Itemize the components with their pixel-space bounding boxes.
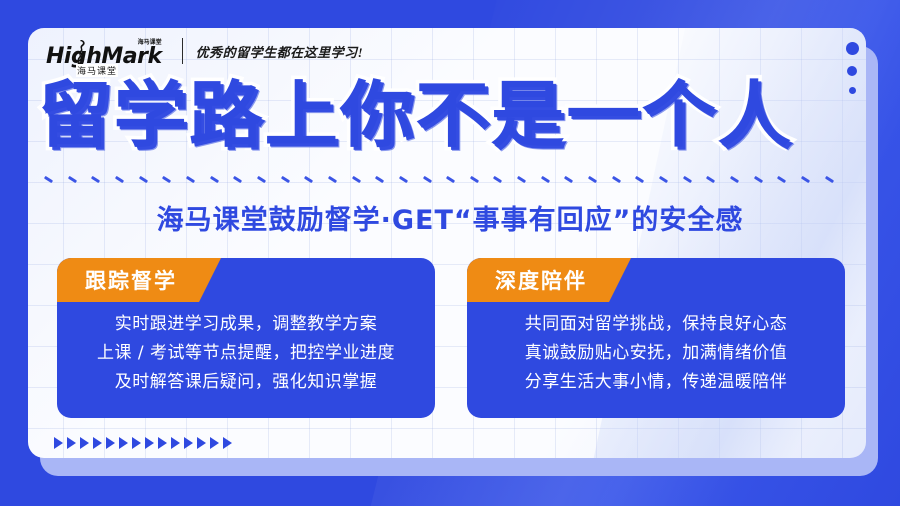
arrow-triangle-icon (67, 437, 76, 449)
logo-superscript: 海马课堂 (138, 40, 162, 46)
arrow-triangle-icon (197, 437, 206, 449)
logo-subtext: 海马课堂 (76, 64, 118, 77)
logo-mark: HighMark 海马课堂 海马课堂 (46, 34, 162, 68)
arrow-triangle-icon (93, 437, 102, 449)
card-body: 共同面对留学挑战，保持良好心态 真诚鼓励贴心安抚，加满情绪价值 分享生活大事小情… (467, 310, 845, 397)
feature-card: 跟踪督学 实时跟进学习成果，调整教学方案 上课 / 考试等节点提醒，把控学业进度… (57, 258, 435, 418)
brand-logo: HighMark 海马课堂 海马课堂 优秀的留学生都在这里学习! (46, 34, 363, 68)
logo-divider (182, 38, 183, 64)
headline: 留学路上你不是一个人 (38, 72, 864, 158)
arrow-triangle-icon (119, 437, 128, 449)
card-line: 及时解答课后疑问，强化知识掌握 (57, 368, 435, 397)
card-line: 实时跟进学习成果，调整教学方案 (57, 310, 435, 339)
card-line: 上课 / 考试等节点提醒，把控学业进度 (57, 339, 435, 368)
card-line: 共同面对留学挑战，保持良好心态 (467, 310, 845, 339)
arrow-triangle-icon (145, 437, 154, 449)
arrow-strip (54, 437, 232, 449)
arrow-triangle-icon (132, 437, 141, 449)
arrow-triangle-icon (223, 437, 232, 449)
card-line: 真诚鼓励贴心安抚，加满情绪价值 (467, 339, 845, 368)
feature-card: 深度陪伴 共同面对留学挑战，保持良好心态 真诚鼓励贴心安抚，加满情绪价值 分享生… (467, 258, 845, 418)
arrow-triangle-icon (106, 437, 115, 449)
card-body: 实时跟进学习成果，调整教学方案 上课 / 考试等节点提醒，把控学业进度 及时解答… (57, 310, 435, 397)
arrow-triangle-icon (158, 437, 167, 449)
card-badge: 深度陪伴 (467, 258, 631, 302)
card-badge: 跟踪督学 (57, 258, 221, 302)
arrow-triangle-icon (184, 437, 193, 449)
arrow-triangle-icon (210, 437, 219, 449)
brand-tagline: 优秀的留学生都在这里学习! (196, 42, 364, 61)
arrow-triangle-icon (54, 437, 63, 449)
feature-cards: 跟踪督学 实时跟进学习成果，调整教学方案 上课 / 考试等节点提醒，把控学业进度… (57, 258, 845, 418)
subtitle: 海马课堂鼓励督学·GET“事事有回应”的安全感 (0, 198, 900, 237)
arrow-triangle-icon (171, 437, 180, 449)
arrow-triangle-icon (80, 437, 89, 449)
dot-decoration (840, 42, 864, 94)
dot-large (846, 42, 859, 55)
card-line: 分享生活大事小情，传递温暖陪伴 (467, 368, 845, 397)
dot-medium (847, 66, 857, 76)
dot-small (849, 87, 856, 94)
promo-banner: HighMark 海马课堂 海马课堂 优秀的留学生都在这里学习! 留学路上你不是… (0, 0, 900, 506)
